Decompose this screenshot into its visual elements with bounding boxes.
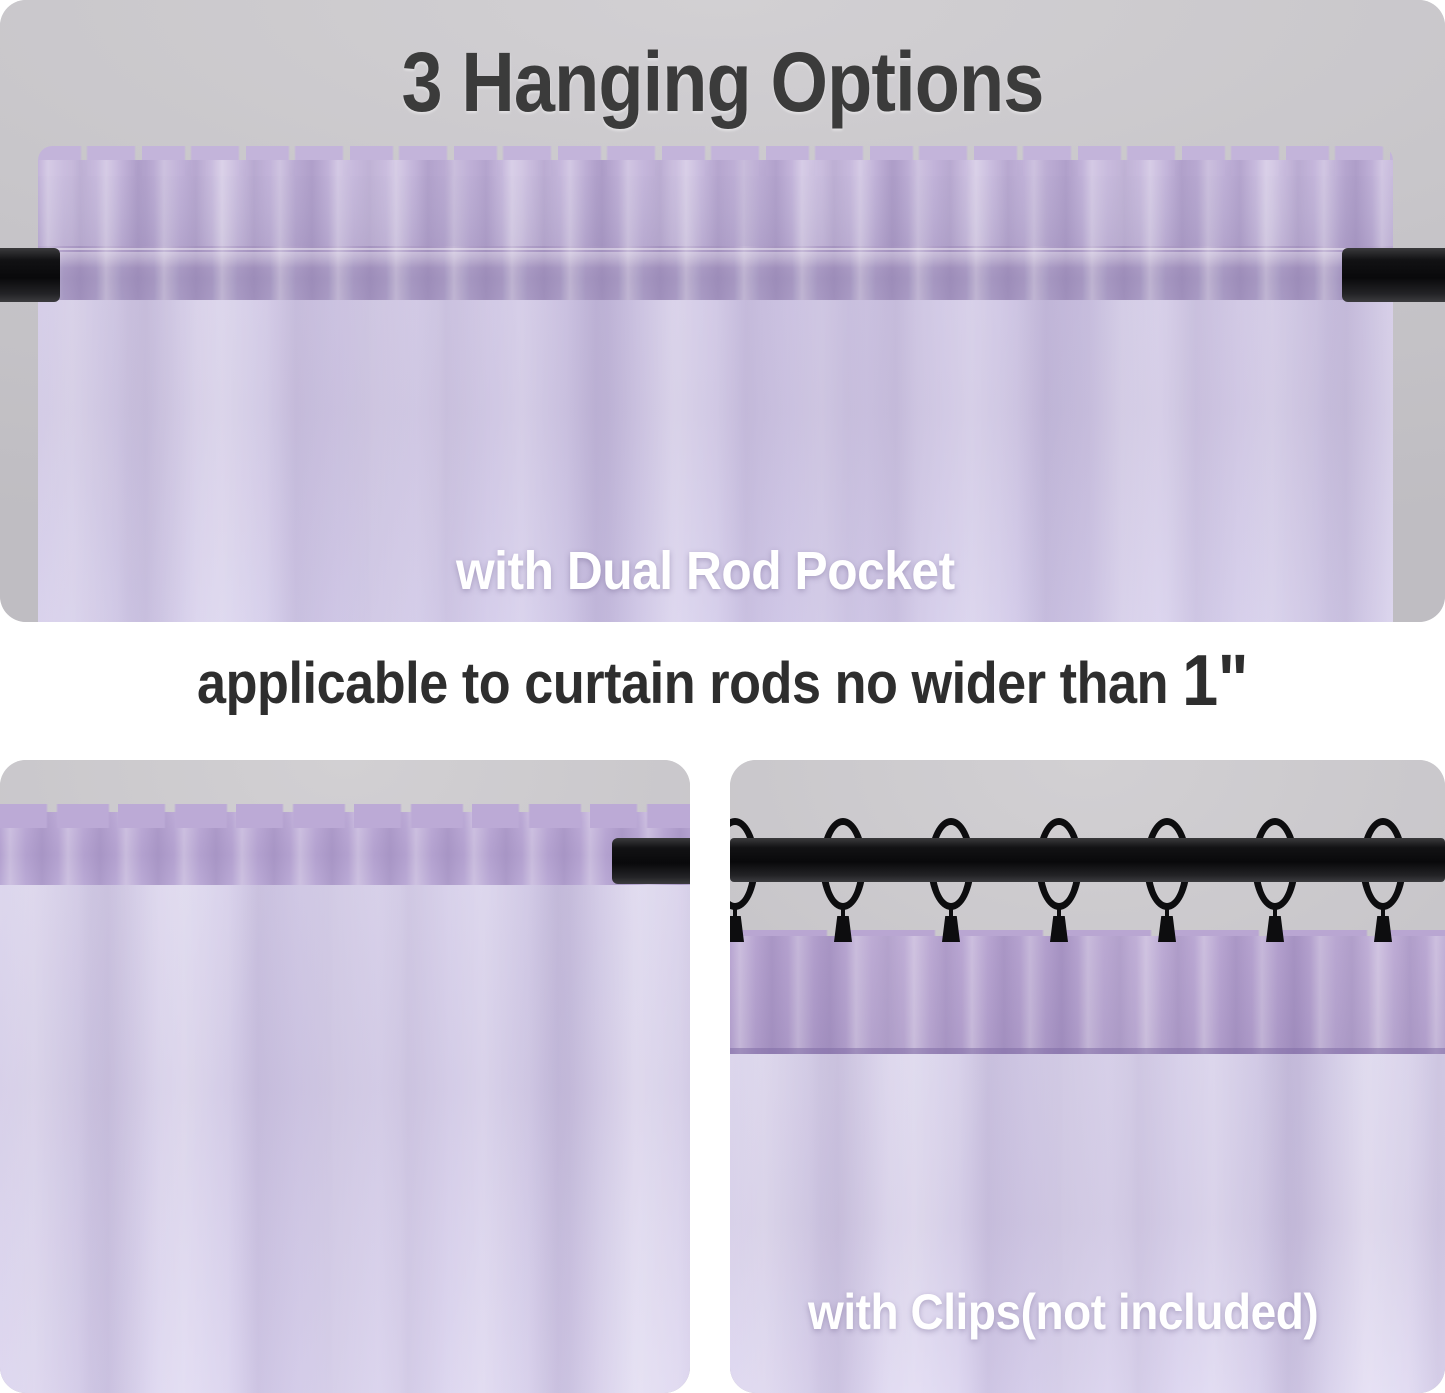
curtain-rod	[730, 838, 1445, 882]
curtain-ruffle-header	[38, 160, 1393, 256]
panel-pole-top: Pole Top - with bottom hem	[0, 760, 690, 1393]
caption-clips: with Clips(not included)	[808, 1283, 1318, 1341]
ruffle-folds	[38, 160, 1393, 256]
curtain-body	[730, 1054, 1445, 1393]
rod-width-note: applicable to curtain rods no wider than…	[72, 640, 1373, 722]
curtain-rod-right-end	[1342, 248, 1445, 302]
curtain-folds-secondary	[730, 1054, 1445, 1393]
curtain-rod-right-end	[612, 838, 690, 884]
rod-width-measurement: 1"	[1182, 641, 1248, 721]
rod-width-note-text: applicable to curtain rods no wider than	[197, 651, 1182, 716]
panel-dual-rod-pocket: 3 Hanging Options with Dual Rod Pocket	[0, 0, 1445, 622]
curtain-folds-secondary	[0, 885, 690, 1393]
page-title: 3 Hanging Options	[87, 34, 1359, 131]
curtain-body	[0, 885, 690, 1393]
curtain-rod-left-end	[0, 248, 60, 302]
caption-dual-rod-pocket: with Dual Rod Pocket	[456, 540, 955, 602]
pocket-seam-top	[38, 248, 1393, 250]
pocket-highlight	[38, 252, 1393, 268]
curtain-top-band	[730, 936, 1445, 1056]
panel-clips: with Clips(not included)	[730, 760, 1445, 1393]
header-top-edge	[0, 804, 690, 828]
band-folds	[730, 936, 1445, 1056]
